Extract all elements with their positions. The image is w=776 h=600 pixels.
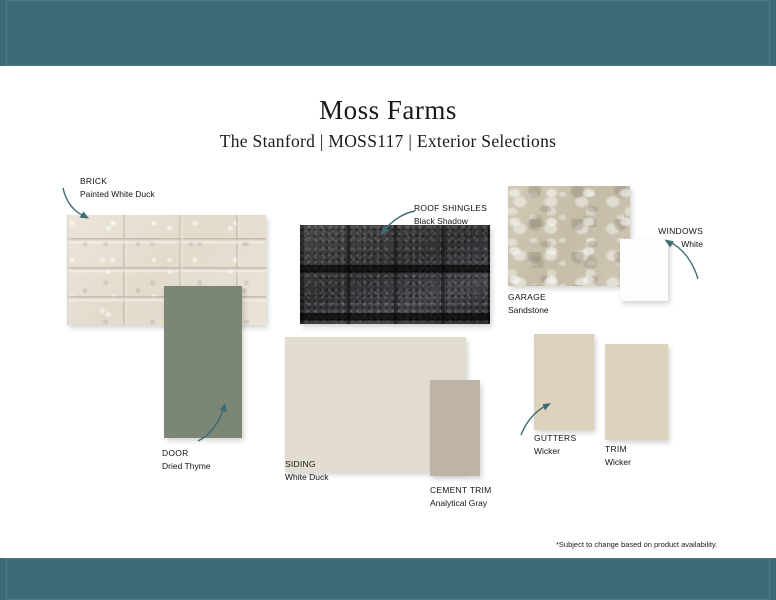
label-roof-shingles-name: Black Shadow [414,215,487,228]
swatch-cement-trim[interactable] [430,380,480,476]
label-roof-shingles: ROOF SHINGLES Black Shadow [414,202,487,228]
label-trim-name: Wicker [605,456,631,469]
top-accent-band [0,0,776,66]
label-brick: BRICK Painted White Duck [80,175,155,201]
label-windows-name: White [627,238,703,251]
page-subtitle: The Stanford | MOSS117 | Exterior Select… [0,131,776,152]
label-siding-name: White Duck [285,471,328,484]
label-windows: WINDOWS White [627,225,703,251]
label-gutters-category: GUTTERS [534,432,576,445]
label-brick-category: BRICK [80,175,155,188]
label-cement-trim-name: Analytical Gray [430,497,491,510]
label-trim: TRIM Wicker [605,443,631,469]
swatch-roof-shingles[interactable] [300,225,490,324]
label-gutters: GUTTERS Wicker [534,432,576,458]
label-cement-trim-category: CEMENT TRIM [430,484,491,497]
swatch-trim[interactable] [605,344,668,440]
label-garage-category: GARAGE [508,291,549,304]
label-door-name: Dried Thyme [162,460,211,473]
top-band-inner-rule [6,0,770,66]
label-siding-category: SIDING [285,458,328,471]
label-siding: SIDING White Duck [285,458,328,484]
label-windows-category: WINDOWS [627,225,703,238]
label-roof-shingles-category: ROOF SHINGLES [414,202,487,215]
selection-board: Moss Farms The Stanford | MOSS117 | Exte… [0,0,776,600]
label-door: DOOR Dried Thyme [162,447,211,473]
swatch-garage[interactable] [508,186,630,286]
swatch-door[interactable] [164,286,242,438]
page-title: Moss Farms [0,96,776,126]
swatch-gutters[interactable] [534,334,594,430]
label-garage: GARAGE Sandstone [508,291,549,317]
label-cement-trim: CEMENT TRIM Analytical Gray [430,484,491,510]
label-brick-name: Painted White Duck [80,188,155,201]
bottom-accent-band [0,558,776,600]
label-garage-name: Sandstone [508,304,549,317]
footnote: *Subject to change based on product avai… [556,540,717,549]
label-trim-category: TRIM [605,443,631,456]
bottom-band-inner-rule [6,558,770,600]
label-door-category: DOOR [162,447,211,460]
title-block: Moss Farms The Stanford | MOSS117 | Exte… [0,96,776,152]
label-gutters-name: Wicker [534,445,576,458]
